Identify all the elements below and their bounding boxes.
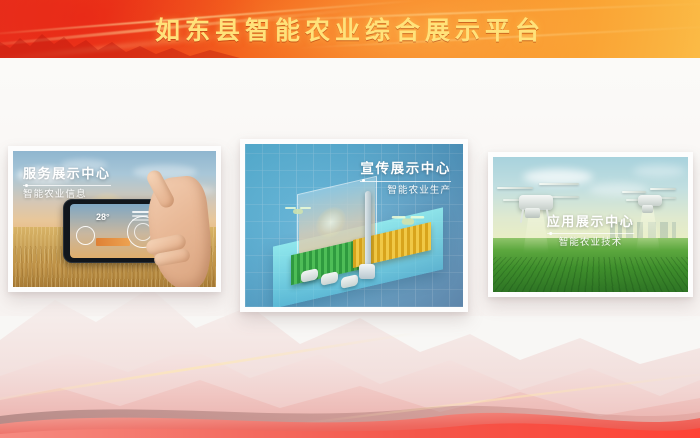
- caption-divider: [23, 185, 111, 186]
- caption-divider: [547, 233, 635, 234]
- phone-temperature-readout: 28°: [96, 212, 110, 222]
- card-promotion-image: 宣传展示中心 智能农业生产: [245, 144, 463, 307]
- page-title: 如东县智能农业综合展示平台: [0, 0, 700, 58]
- card-service-display-center[interactable]: 28° 服务展示中心 智能农业信息: [8, 146, 221, 292]
- drone-small: [622, 185, 678, 215]
- card-promotion-display-center[interactable]: 宣传展示中心 智能农业生产: [240, 139, 468, 312]
- spray-tank: [525, 208, 540, 218]
- drone-small: [285, 206, 311, 216]
- phone-data-chip: [96, 238, 130, 246]
- card-promotion-caption: 宣传展示中心 智能农业生产: [360, 162, 451, 195]
- cloud: [633, 165, 685, 177]
- card-service-subtitle: 智能农业信息: [23, 190, 111, 200]
- card-promotion-title: 宣传展示中心: [360, 162, 451, 176]
- card-application-subtitle: 智能农业技术: [547, 238, 635, 248]
- header-banner: 如东县智能农业综合展示平台: [0, 0, 700, 58]
- card-promotion-subtitle: 智能农业生产: [360, 186, 451, 196]
- spray-tank: [642, 205, 653, 213]
- card-application-caption: 应用展示中心 智能农业技术: [547, 215, 635, 248]
- card-service-title: 服务展示中心: [23, 167, 111, 180]
- card-application-image: 应用展示中心 智能农业技术: [493, 157, 688, 292]
- sun-glow: [316, 204, 346, 241]
- page-root: 如东县智能农业综合展示平台 28°: [0, 0, 700, 438]
- card-application-display-center[interactable]: 应用展示中心 智能农业技术: [488, 152, 693, 297]
- caption-divider: [360, 181, 451, 182]
- sensor-pole: [365, 191, 371, 267]
- card-application-title: 应用展示中心: [547, 215, 635, 228]
- drone-large: [392, 215, 425, 228]
- control-box: [359, 264, 375, 279]
- card-service-caption: 服务展示中心 智能农业信息: [23, 167, 111, 200]
- card-service-image: 28° 服务展示中心 智能农业信息: [13, 151, 216, 287]
- hud-ring-small: [76, 226, 95, 245]
